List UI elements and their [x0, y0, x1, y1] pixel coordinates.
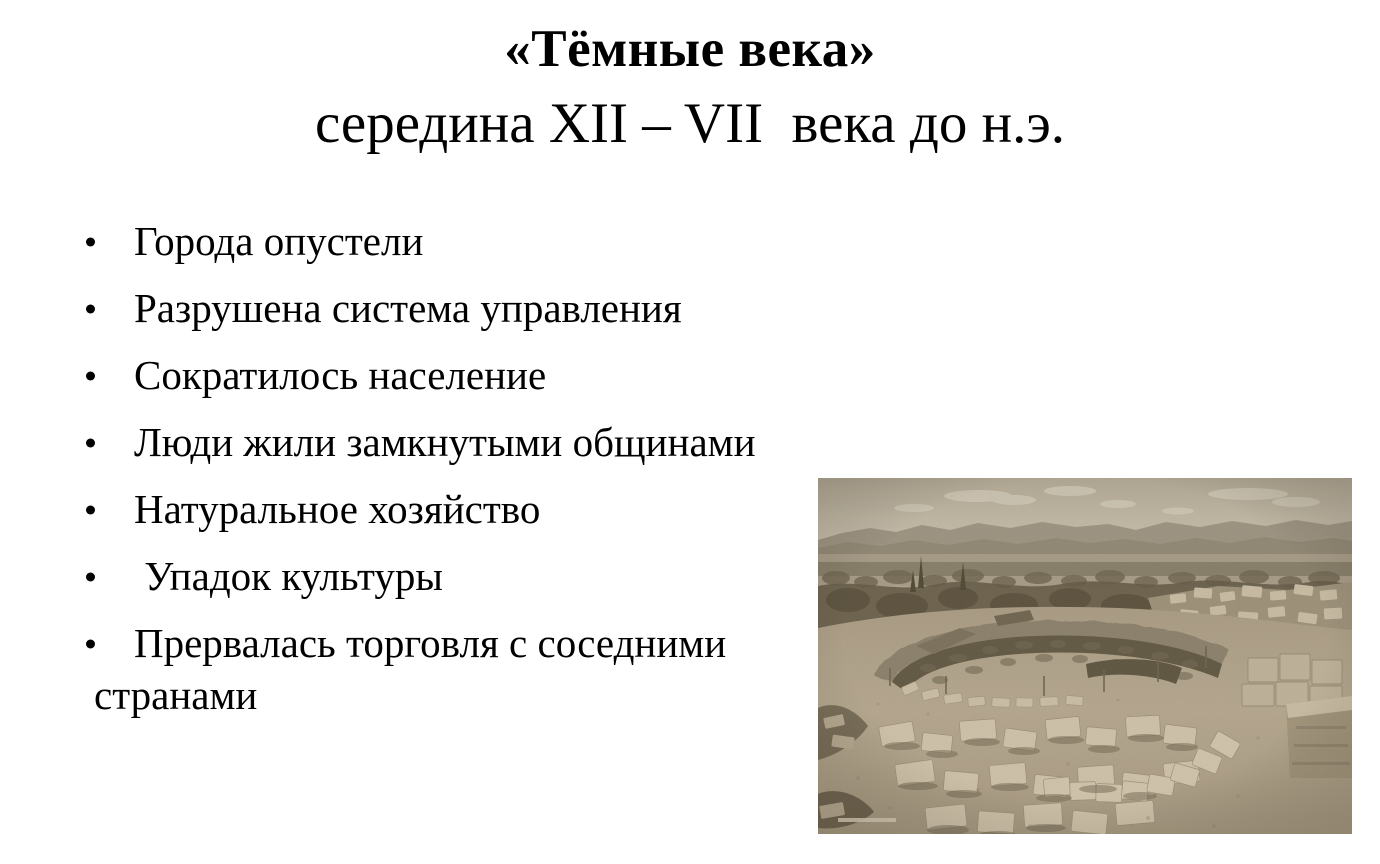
bullet-dot-icon [86, 304, 95, 313]
archaeological-ruins-photo [818, 478, 1352, 834]
list-item-label: Натуральное хозяйство [134, 486, 540, 532]
list-item-label: Сократилось население [134, 352, 546, 398]
bullet-dot-icon [86, 572, 95, 581]
list-item: Люди жили замкнутыми общинами [0, 409, 820, 476]
bullet-list: Города опустели Разрушена система управл… [0, 208, 820, 677]
list-item: Города опустели [0, 208, 820, 275]
list-item-label: Прервалась торговля с соседними [134, 620, 726, 666]
ruins-photo-graphic [818, 478, 1352, 834]
list-item: Разрушена система управления [0, 275, 820, 342]
list-item: Натуральное хозяйство [0, 476, 820, 543]
bullet-dot-icon [86, 505, 95, 514]
list-item-label: Упадок культуры [134, 553, 443, 599]
bullet-dot-icon [86, 438, 95, 447]
list-item-continuation-label: странами [94, 672, 257, 718]
title-line-1: «Тёмные века» [0, 16, 1380, 82]
slide-title-block: «Тёмные века» середина XII – VII века до… [0, 16, 1380, 160]
list-item-label: Города опустели [134, 218, 423, 264]
list-item-label: Разрушена система управления [134, 285, 682, 331]
title-line-2: середина XII – VII века до н.э. [0, 88, 1380, 160]
list-item-label: Люди жили замкнутыми общинами [134, 419, 756, 465]
list-item: Упадок культуры [0, 543, 820, 610]
bullet-dot-icon [86, 237, 95, 246]
bullet-dot-icon [86, 371, 95, 380]
list-item: Сократилось население [0, 342, 820, 409]
bullet-dot-icon [86, 639, 95, 648]
list-item: Прервалась торговля с соседними [0, 610, 820, 677]
